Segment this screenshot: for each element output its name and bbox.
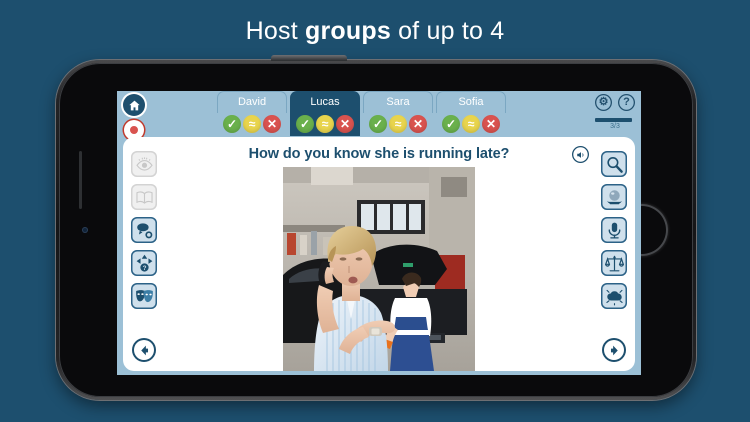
mark-partial-icon[interactable]: ≈ [462, 115, 480, 133]
brain-icon[interactable] [601, 283, 627, 309]
scales-icon[interactable] [601, 250, 627, 276]
arrow-right-icon[interactable] [602, 338, 626, 362]
earpiece-speaker [79, 151, 82, 209]
mark-correct-icon[interactable]: ✓ [369, 115, 387, 133]
volume-button[interactable] [271, 55, 347, 61]
participant-tab-lucas[interactable]: Lucas ✓ ≈ ✕ [290, 91, 360, 136]
theater-masks-icon[interactable] [131, 283, 157, 309]
participant-name: Sofia [436, 91, 506, 113]
speech-bubble-icon[interactable] [131, 217, 157, 243]
right-tool-rail [601, 151, 627, 309]
home-icon[interactable] [123, 94, 145, 116]
arrow-left-icon[interactable] [132, 338, 156, 362]
microphone-icon[interactable] [601, 217, 627, 243]
mark-correct-icon[interactable]: ✓ [442, 115, 460, 133]
help-icon[interactable]: ? [618, 94, 635, 111]
participant-tab-sofia[interactable]: Sofia ✓ ≈ ✕ [436, 91, 506, 136]
front-camera-icon [82, 227, 88, 233]
mark-incorrect-icon[interactable]: ✕ [482, 115, 500, 133]
left-tool-rail: ? [131, 151, 157, 309]
participant-tab-david[interactable]: David ✓ ≈ ✕ [217, 91, 287, 136]
mark-incorrect-icon[interactable]: ✕ [409, 115, 427, 133]
mark-partial-icon[interactable]: ≈ [316, 115, 334, 133]
mark-correct-icon[interactable]: ✓ [296, 115, 314, 133]
score-marks: ✓ ≈ ✕ [436, 113, 506, 136]
headline-post: of up to 4 [391, 17, 504, 46]
participant-tabs: David ✓ ≈ ✕ Lucas ✓ ≈ ✕ [217, 91, 506, 136]
participant-name: David [217, 91, 287, 113]
magnifier-icon[interactable] [601, 151, 627, 177]
score-marks: ✓ ≈ ✕ [217, 113, 287, 136]
participant-name: Lucas [290, 91, 360, 113]
score-marks: ✓ ≈ ✕ [290, 113, 360, 136]
headline-emphasis: groups [305, 17, 391, 46]
eye-icon[interactable] [131, 151, 157, 177]
mark-partial-icon[interactable]: ≈ [389, 115, 407, 133]
stimulus-photo [283, 167, 475, 371]
app-screen: David ✓ ≈ ✕ Lucas ✓ ≈ ✕ [117, 91, 641, 375]
progress-label: 3/3 [595, 123, 635, 130]
top-right-controls: ⚙ ? 3/3 [595, 94, 635, 130]
choices-arrows-icon[interactable]: ? [131, 250, 157, 276]
progress-bar [595, 118, 632, 122]
phone-bezel: David ✓ ≈ ✕ Lucas ✓ ≈ ✕ [59, 63, 693, 397]
score-marks: ✓ ≈ ✕ [363, 113, 433, 136]
participant-name: Sara [363, 91, 433, 113]
app-top-bar: David ✓ ≈ ✕ Lucas ✓ ≈ ✕ [117, 91, 641, 135]
crystal-ball-icon[interactable] [601, 184, 627, 210]
gear-icon[interactable]: ⚙ [595, 94, 612, 111]
question-text: How do you know she is running late? [123, 137, 635, 162]
headline-pre: Host [246, 17, 305, 46]
promo-headline: Host groups of up to 4 [0, 0, 750, 62]
phone-device-frame: David ✓ ≈ ✕ Lucas ✓ ≈ ✕ [56, 60, 696, 400]
activity-card: How do you know she is running late? [123, 137, 635, 371]
progress-indicator: 3/3 [595, 118, 635, 130]
mark-correct-icon[interactable]: ✓ [223, 115, 241, 133]
speaker-icon[interactable] [572, 146, 589, 163]
mark-incorrect-icon[interactable]: ✕ [263, 115, 281, 133]
mark-partial-icon[interactable]: ≈ [243, 115, 261, 133]
open-book-icon[interactable] [131, 184, 157, 210]
svg-text:?: ? [142, 264, 146, 271]
participant-tab-sara[interactable]: Sara ✓ ≈ ✕ [363, 91, 433, 136]
mark-incorrect-icon[interactable]: ✕ [336, 115, 354, 133]
